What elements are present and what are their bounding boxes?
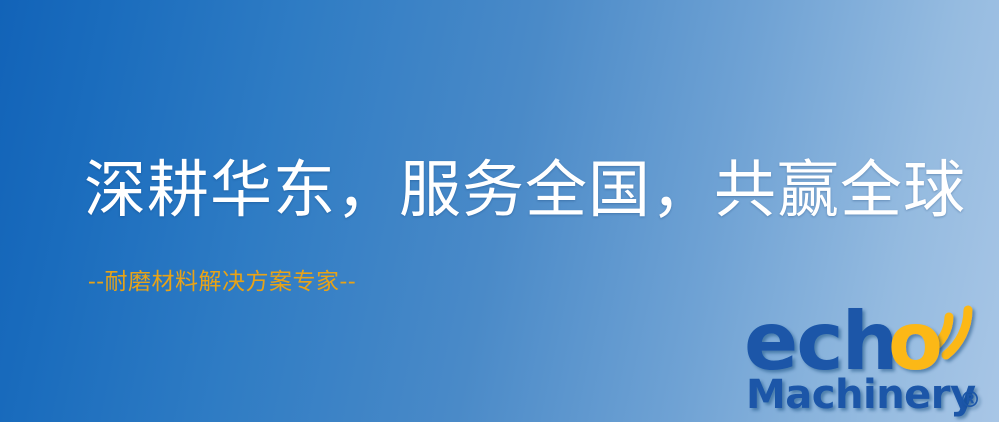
echo-machinery-logo: ech o Machinery ® <box>744 296 996 418</box>
banner-subtitle: --耐磨材料解决方案专家-- <box>88 268 356 296</box>
logo-tagline: Machinery <box>746 372 976 418</box>
promo-banner: 深耕华东，服务全国，共赢全球 --耐磨材料解决方案专家-- ech o Mach… <box>0 0 999 422</box>
banner-headline: 深耕华东，服务全国，共赢全球 <box>84 153 966 227</box>
registered-mark-icon: ® <box>959 388 981 413</box>
